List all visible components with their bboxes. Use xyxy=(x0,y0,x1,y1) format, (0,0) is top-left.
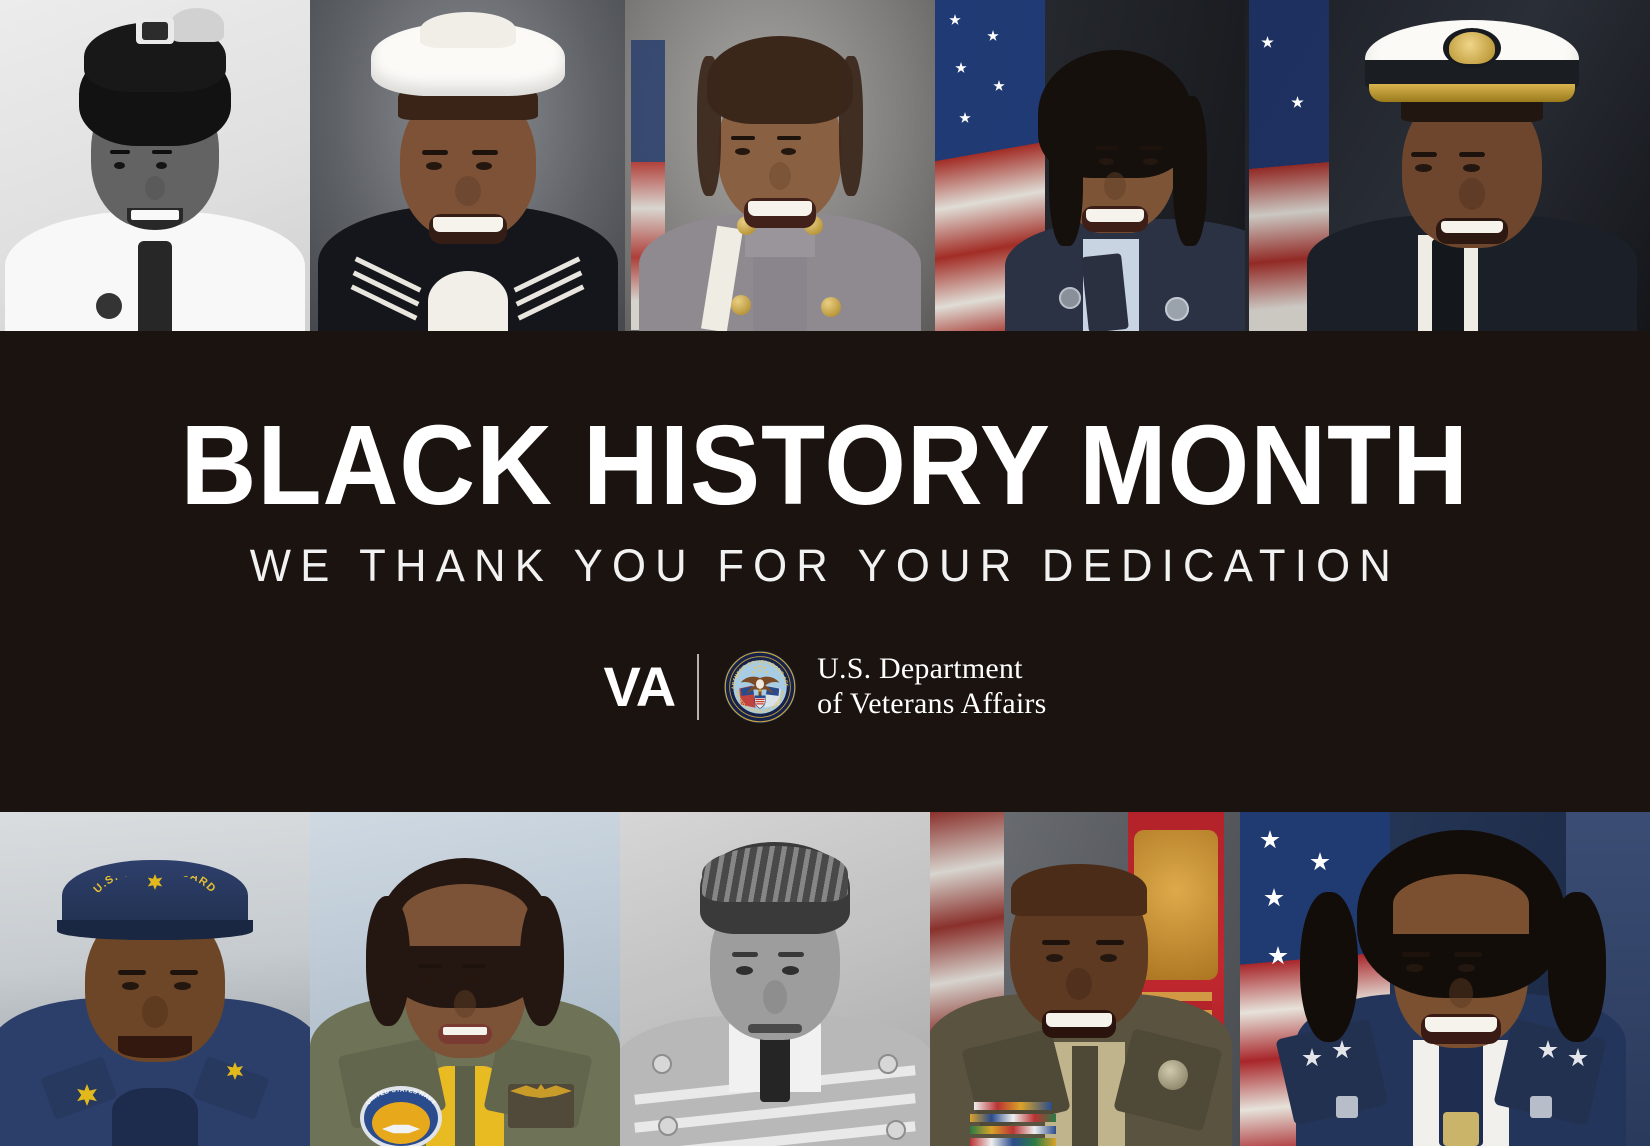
photo-row-top xyxy=(0,0,1650,331)
logo-divider xyxy=(697,654,699,720)
black-history-month-poster: BLACK HISTORY MONTH WE THANK YOU FOR YOU… xyxy=(0,0,1650,1146)
photo-row-bottom: U.S. COAST GUARD xyxy=(0,812,1650,1146)
page-title: BLACK HISTORY MONTH xyxy=(181,417,1470,514)
banner: BLACK HISTORY MONTH WE THANK YOU FOR YOU… xyxy=(0,331,1650,812)
department-name-line2: of Veterans Affairs xyxy=(817,687,1046,722)
photo-west-point-cadet-historic xyxy=(620,812,930,1146)
photo-navy-sailor-dixie-cup xyxy=(310,0,625,331)
page-subtitle: WE THANK YOU FOR YOUR DEDICATION xyxy=(250,540,1400,592)
svg-text:UNITED STATES NAVY: UNITED STATES NAVY xyxy=(365,1090,438,1107)
photo-air-force-general-woman xyxy=(1240,812,1650,1146)
navy-patch-text: UNITED STATES NAVY xyxy=(365,1090,438,1107)
department-name: U.S. Department of Veterans Affairs xyxy=(817,652,1046,722)
va-logo-lockup: VA xyxy=(604,650,1047,724)
photo-navy-officer-woman-historic xyxy=(0,0,310,331)
photo-navy-aviator-woman: UNITED STATES NAVY xyxy=(310,812,620,1146)
photo-navy-officer-white-cap xyxy=(1245,0,1650,331)
photo-air-force-woman xyxy=(935,0,1245,331)
photo-coast-guard-officer: U.S. COAST GUARD xyxy=(0,812,310,1146)
va-seal-icon: DEPARTMENT OF VETERANS AFFAIRS UNITED ST… xyxy=(723,650,797,724)
photo-west-point-cadet-woman xyxy=(625,0,935,331)
department-name-line1: U.S. Department xyxy=(817,652,1046,687)
va-wordmark: VA xyxy=(604,659,698,715)
photo-marine-officer xyxy=(930,812,1240,1146)
